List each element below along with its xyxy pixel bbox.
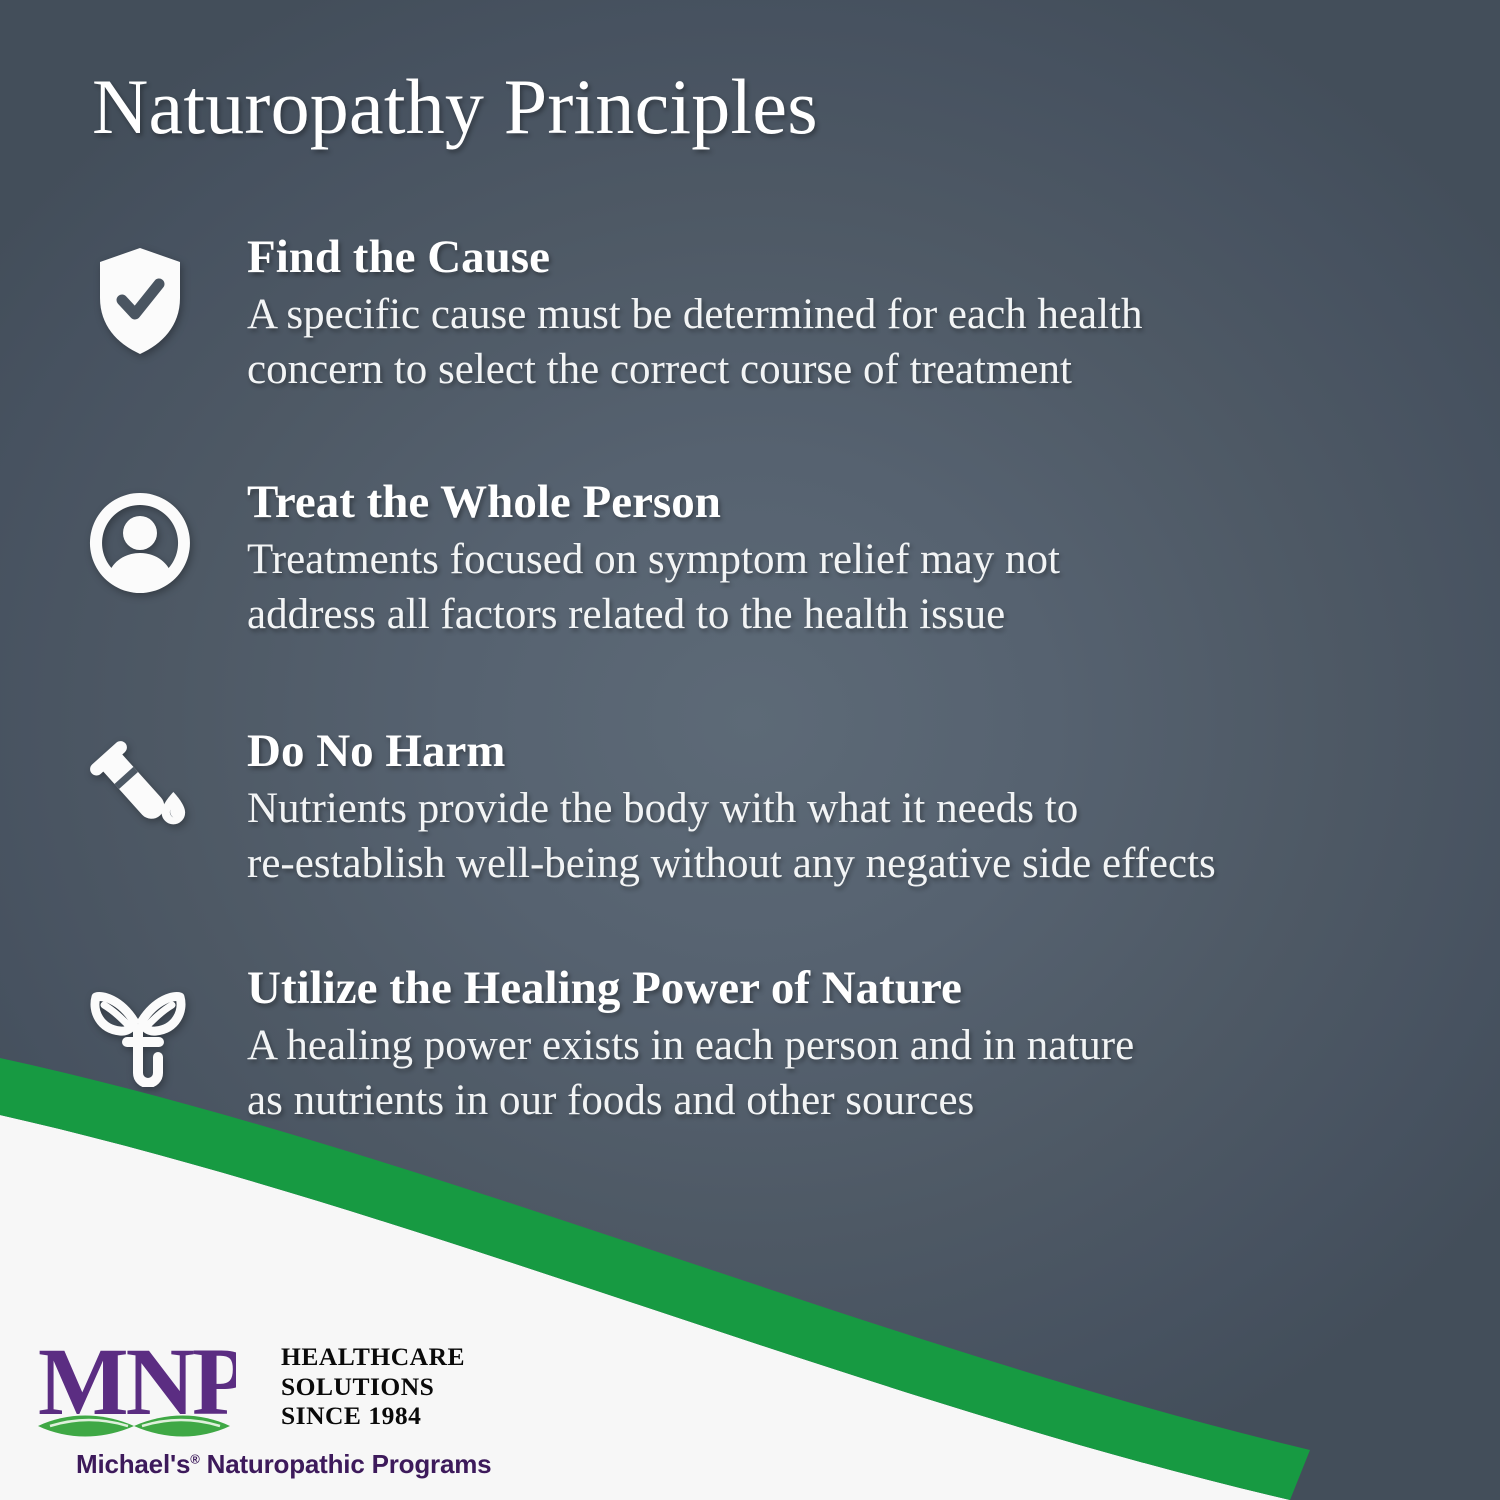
principle-item-find-the-cause: Find the Cause A specific cause must be … [88,232,1448,397]
logo-line: SOLUTIONS [281,1372,465,1402]
principle-text-block: Treat the Whole Person Treatments focuse… [192,477,1060,642]
principle-text-block: Find the Cause A specific cause must be … [192,232,1142,397]
logo-tagline-rest: Naturopathic Programs [200,1449,492,1479]
page-title: Naturopathy Principles [92,68,818,146]
principle-body-line: A healing power exists in each person an… [247,1018,1134,1073]
principle-body-line: A specific cause must be determined for … [247,287,1142,342]
principle-heading: Do No Harm [247,726,1216,777]
logo-tagline-brand: Michael's [76,1449,190,1479]
shield-check-icon [88,232,192,350]
test-tube-drop-icon [88,726,192,844]
principle-text-block: Do No Harm Nutrients provide the body wi… [192,726,1216,891]
principle-heading: Utilize the Healing Power of Nature [247,963,1134,1014]
principle-body-line: address all factors related to the healt… [247,587,1060,642]
principle-body-line: Nutrients provide the body with what it … [247,781,1216,836]
principle-item-healing-power-of-nature: Utilize the Healing Power of Nature A he… [88,963,1448,1128]
company-logo: MNP HEALTHCARE SOLUTIONS SINCE 1984 Mich… [36,1338,456,1488]
infographic-poster: Naturopathy Principles Find the Cause A … [0,0,1500,1500]
principle-body: Treatments focused on symptom relief may… [247,532,1060,642]
seedling-icon [88,963,192,1081]
principle-item-treat-the-whole-person: Treat the Whole Person Treatments focuse… [88,477,1448,642]
principle-heading: Find the Cause [247,232,1142,283]
logo-line: HEALTHCARE [281,1342,465,1372]
principle-body-line: re-establish well-being without any nega… [247,836,1216,891]
logo-tagline: Michael's® Naturopathic Programs [76,1449,491,1480]
logo-text-lines: HEALTHCARE SOLUTIONS SINCE 1984 [281,1342,465,1431]
registered-mark-icon: ® [190,1451,199,1466]
principle-heading: Treat the Whole Person [247,477,1060,528]
principle-body: A specific cause must be determined for … [247,287,1142,397]
mnp-monogram-icon: MNP [36,1338,236,1446]
principle-body-line: concern to select the correct course of … [247,342,1142,397]
principle-body-line: as nutrients in our foods and other sour… [247,1073,1134,1128]
person-circle-icon [88,477,192,595]
principle-text-block: Utilize the Healing Power of Nature A he… [192,963,1134,1128]
principle-body: A healing power exists in each person an… [247,1018,1134,1128]
principle-item-do-no-harm: Do No Harm Nutrients provide the body wi… [88,726,1448,891]
principle-body: Nutrients provide the body with what it … [247,781,1216,891]
logo-line: SINCE 1984 [281,1401,465,1431]
principle-body-line: Treatments focused on symptom relief may… [247,532,1060,587]
